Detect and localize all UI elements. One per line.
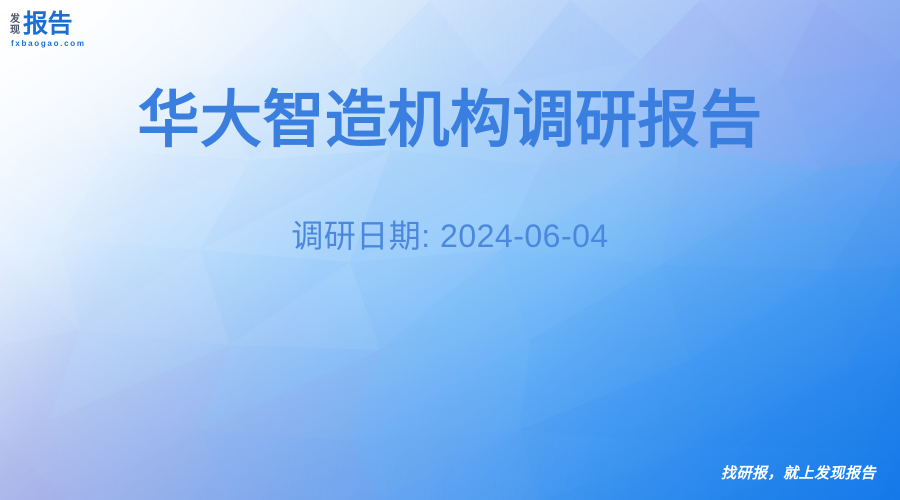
- footer-slogan: 找研报，就上发现报告: [721, 464, 876, 484]
- cover-title-block: 华大智造机构调研报告 调研日期: 2024-06-04: [0, 84, 900, 255]
- logo-mark-stacked: 发 现: [10, 14, 20, 37]
- logo-wordmark-row: 发 现 报告: [10, 11, 130, 37]
- logo-url: fxbaogao.com: [11, 39, 130, 49]
- survey-date-subtitle: 调研日期: 2024-06-04: [0, 217, 900, 255]
- page-title: 华大智造机构调研报告: [0, 84, 900, 158]
- logo-wordmark: 报告: [23, 12, 72, 37]
- logo-mark-char-1: 发: [10, 14, 20, 25]
- logo-mark-char-2: 现: [10, 25, 20, 36]
- report-cover-page: 发 现 报告 fxbaogao.com 华大智造机构调研报告 调研日期: 202…: [0, 0, 900, 500]
- brand-logo[interactable]: 发 现 报告 fxbaogao.com: [10, 11, 130, 49]
